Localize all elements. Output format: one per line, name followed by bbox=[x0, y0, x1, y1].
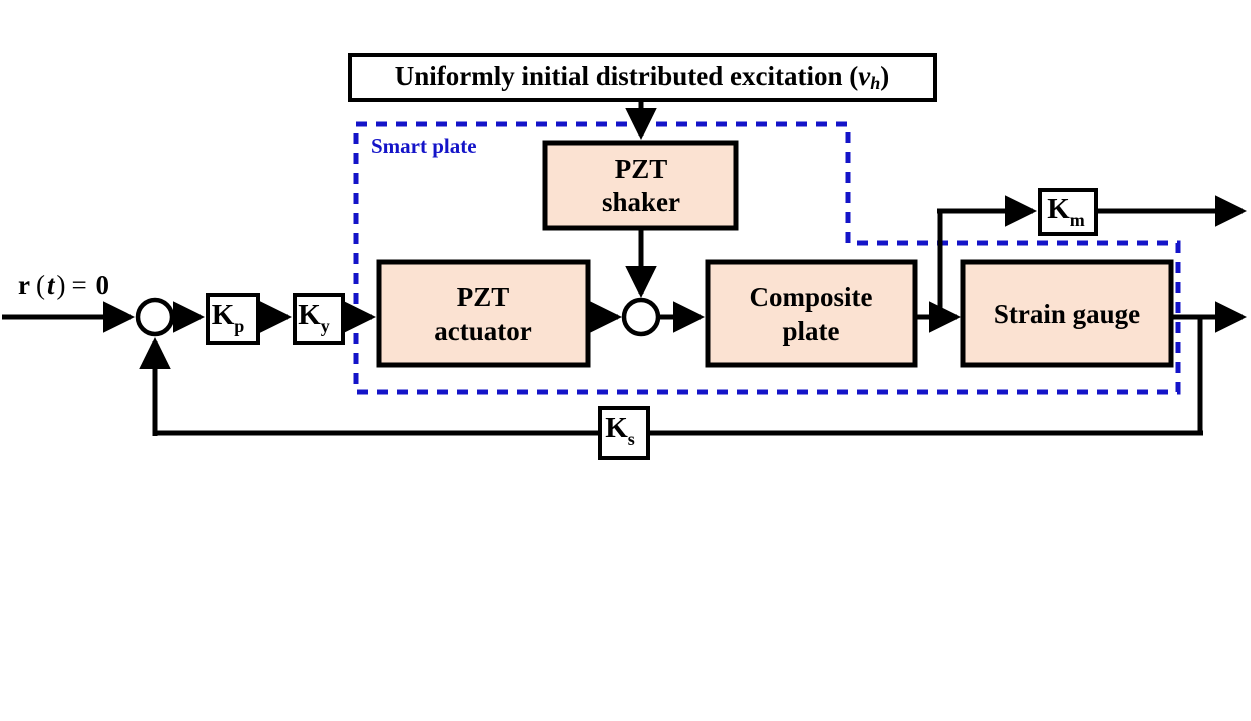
reference-paren-open: ( bbox=[36, 270, 45, 300]
pzt-shaker-label-line1: PZT bbox=[615, 154, 668, 184]
strain-gauge-label: Strain gauge bbox=[994, 299, 1140, 329]
sum-plant-junction bbox=[624, 300, 658, 334]
excitation-label-close: ) bbox=[880, 61, 889, 91]
pzt-actuator-label-line2: actuator bbox=[434, 316, 531, 346]
pzt-actuator-block bbox=[379, 262, 588, 365]
reference-paren-close: ) bbox=[57, 270, 66, 300]
excitation-label-sub: h bbox=[870, 73, 880, 93]
reference-equals: = bbox=[72, 270, 94, 300]
excitation-label-main: Uniformly initial distributed excitation… bbox=[395, 61, 858, 91]
reference-r: r bbox=[18, 270, 30, 300]
smart-plate-label: Smart plate bbox=[371, 134, 477, 158]
reference-input-label: r(t)= 0 bbox=[18, 270, 109, 300]
km-subscript: m bbox=[1070, 210, 1085, 230]
km-symbol: K bbox=[1047, 193, 1070, 225]
reference-zero: 0 bbox=[95, 270, 109, 300]
excitation-label: Uniformly initial distributed excitation… bbox=[395, 61, 889, 93]
ks-symbol: K bbox=[605, 412, 628, 444]
block-diagram: Smart plate Uniformly initial distribute… bbox=[0, 0, 1251, 721]
kp-symbol: K bbox=[212, 299, 235, 331]
pzt-actuator-label-line1: PZT bbox=[457, 282, 510, 312]
block-diagram-canvas: Smart plate Uniformly initial distribute… bbox=[0, 0, 1251, 721]
reference-t: t bbox=[47, 270, 56, 300]
composite-plate-label-line1: Composite bbox=[750, 282, 873, 312]
ky-symbol: K bbox=[298, 299, 321, 331]
ks-subscript: s bbox=[628, 429, 635, 449]
kp-subscript: p bbox=[234, 316, 244, 336]
composite-plate-label-line2: plate bbox=[783, 316, 840, 346]
sum-input-junction bbox=[138, 300, 172, 334]
composite-plate-block bbox=[708, 262, 915, 365]
ky-subscript: y bbox=[321, 316, 330, 336]
pzt-shaker-label-line2: shaker bbox=[602, 187, 680, 217]
